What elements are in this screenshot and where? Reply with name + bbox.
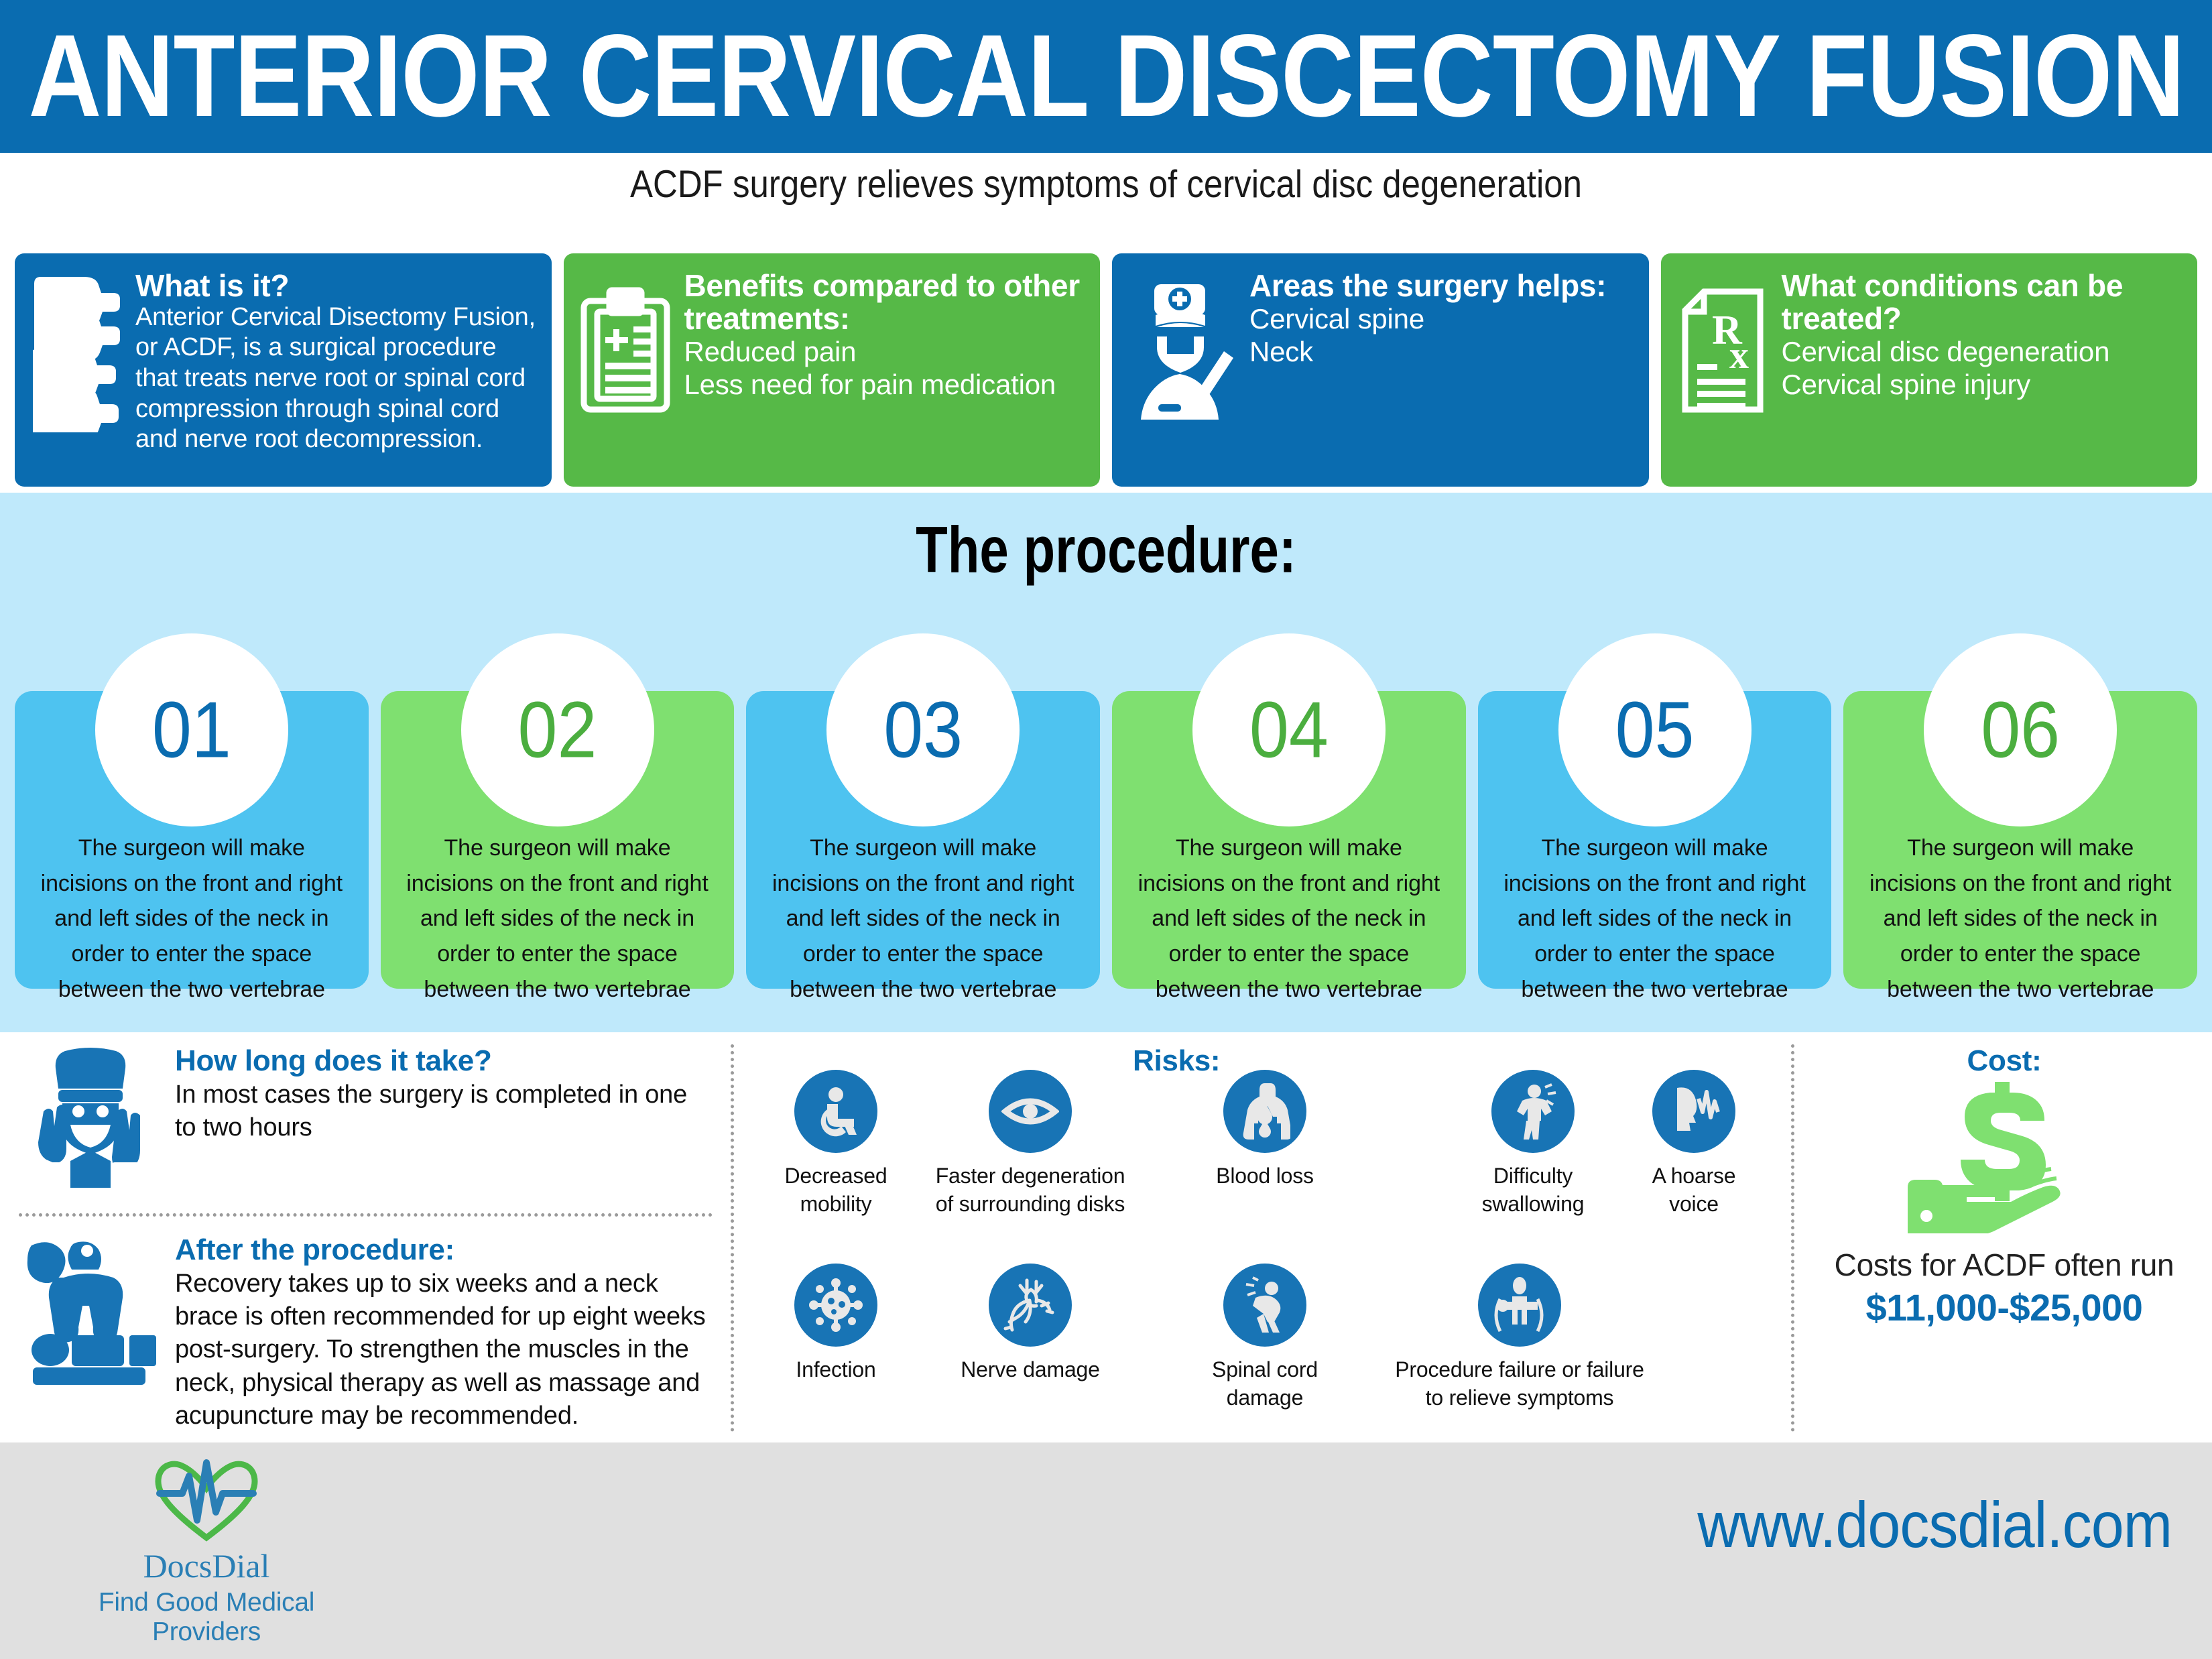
info-card-what-is-it: What is it? Anterior Cervical Disectomy …: [15, 253, 552, 487]
procedure-step: The surgeon will make incisions on the f…: [746, 633, 1100, 989]
blood-drop-body-icon: [1223, 1070, 1306, 1153]
risk-item-blood-loss: Blood loss: [1181, 1070, 1349, 1190]
step-number-bubble: 03: [826, 633, 1020, 826]
risk-label-line1: A hoarse: [1617, 1162, 1771, 1190]
brand-tagline: Find Good Medical Providers: [79, 1588, 334, 1647]
info-card-line-2: Neck: [1249, 335, 1634, 369]
procedure-step: The surgeon will make incisions on the f…: [1478, 633, 1832, 989]
page-subtitle: ACDF surgery relieves symptoms of cervic…: [0, 162, 2212, 206]
cost-line-1: Costs for ACDF often run: [1803, 1247, 2205, 1283]
svg-text:x: x: [1729, 333, 1749, 377]
step-number-bubble: 02: [461, 633, 654, 826]
step-number-bubble: 04: [1192, 633, 1386, 826]
brand-logo[interactable]: DocsDial Find Good Medical Providers: [79, 1455, 334, 1647]
dollar-in-hand-icon: [1902, 1079, 2103, 1237]
info-card-title: What is it?: [135, 269, 537, 302]
surgeon-gloves-icon: [15, 1044, 166, 1188]
procedure-step: The surgeon will make incisions on the f…: [1112, 633, 1466, 989]
heart-pulse-logo-icon: [79, 1455, 334, 1545]
aftercare-text: Recovery takes up to six weeks and a nec…: [175, 1268, 712, 1433]
procedure-section: The procedure: The surgeon will make inc…: [0, 493, 2212, 1032]
header-banner: ANTERIOR CERVICAL DISCECTOMY FUSION: [0, 0, 2212, 153]
info-card-body: Benefits compared to other treatments: R…: [684, 268, 1086, 402]
step-number-bubble: 06: [1924, 633, 2117, 826]
patient-massage-icon: [15, 1233, 166, 1433]
info-cards-row: What is it? Anterior Cervical Disectomy …: [15, 253, 2197, 487]
footer-bar: DocsDial Find Good Medical Providers www…: [0, 1442, 2212, 1659]
procedure-step: The surgeon will make incisions on the f…: [1843, 633, 2197, 989]
infographic-page: ANTERIOR CERVICAL DISCECTOMY FUSION ACDF…: [0, 0, 2212, 1659]
page-title: ANTERIOR CERVICAL DISCECTOMY FUSION: [28, 18, 2184, 135]
aftercare-block: After the procedure: Recovery takes up t…: [15, 1233, 712, 1433]
info-card-title: Areas the surgery helps:: [1249, 269, 1634, 302]
risk-label-line1: Blood loss: [1181, 1162, 1349, 1190]
risk-item-infection: Infection: [752, 1264, 920, 1384]
cost-line-2: $11,000-$25,000: [1803, 1286, 2205, 1329]
risk-item-spinal-cord-damage: Spinal cord damage: [1181, 1264, 1349, 1412]
risk-label-line1: Spinal cord: [1181, 1355, 1349, 1384]
website-url[interactable]: www.docsdial.com: [1697, 1487, 2172, 1562]
back-pain-icon: [1223, 1264, 1306, 1347]
step-number: 03: [883, 690, 963, 770]
risk-label-line1: Infection: [752, 1355, 920, 1384]
info-card-areas-helped: Areas the surgery helps: Cervical spine …: [1112, 253, 1649, 487]
step-number: 02: [518, 690, 597, 770]
step-text: The surgeon will make incisions on the f…: [32, 831, 351, 1007]
info-card-benefits: Benefits compared to other treatments: R…: [564, 253, 1101, 487]
step-number-bubble: 05: [1558, 633, 1752, 826]
prescription-rx-icon: R x: [1676, 268, 1776, 436]
info-card-body: What conditions can be treated? Cervical…: [1782, 268, 2183, 402]
duration-text: In most cases the surgery is completed i…: [175, 1079, 712, 1145]
cost-title: Cost:: [1810, 1044, 2199, 1078]
throat-swallow-icon: [1491, 1070, 1575, 1153]
risk-label-line2: mobility: [752, 1190, 920, 1218]
risk-label-line2: voice: [1617, 1190, 1771, 1218]
info-card-line-2: Less need for pain medication: [684, 368, 1086, 402]
step-number: 05: [1615, 690, 1695, 770]
info-card-conditions: R x What conditions can be treated? Cerv…: [1661, 253, 2198, 487]
info-card-line-2: Cervical spine injury: [1782, 368, 2183, 402]
risk-label-line1: Faster degeneration: [920, 1162, 1141, 1190]
risk-label-line1: Difficulty: [1449, 1162, 1617, 1190]
lower-section: How long does it take? In most cases the…: [0, 1032, 2212, 1442]
step-text: The surgeon will make incisions on the f…: [763, 831, 1083, 1007]
aftercare-title: After the procedure:: [175, 1233, 712, 1268]
risk-item-difficulty-swallowing: Difficulty swallowing: [1449, 1070, 1617, 1218]
duration-body: How long does it take? In most cases the…: [166, 1044, 712, 1188]
surgeon-scalpel-icon: [1127, 268, 1244, 436]
info-card-body: Areas the surgery helps: Cervical spine …: [1249, 268, 1634, 369]
step-text: The surgeon will make incisions on the f…: [398, 831, 717, 1007]
clipboard-medical-icon: [578, 268, 679, 436]
risk-label-line2: of surrounding disks: [920, 1190, 1141, 1218]
info-card-title: Benefits compared to other treatments:: [684, 269, 1086, 335]
risk-label-line1: Nerve damage: [920, 1355, 1141, 1384]
aftercare-body: After the procedure: Recovery takes up t…: [166, 1233, 712, 1433]
risk-item-faster-degeneration: Faster degeneration of surrounding disks: [920, 1070, 1141, 1218]
info-card-body: What is it? Anterior Cervical Disectomy …: [135, 268, 537, 455]
risk-label-line2: swallowing: [1449, 1190, 1617, 1218]
step-text: The surgeon will make incisions on the f…: [1129, 831, 1449, 1007]
risk-item-decreased-mobility: Decreased mobility: [752, 1070, 920, 1218]
vertical-divider-left: [731, 1044, 734, 1432]
info-card-line-1: Cervical spine: [1249, 302, 1634, 336]
hoarse-voice-icon: [1652, 1070, 1735, 1153]
eye-icon: [989, 1070, 1072, 1153]
risk-label-line2: to relieve symptoms: [1355, 1384, 1684, 1412]
info-card-title: What conditions can be treated?: [1782, 269, 2183, 335]
risk-item-nerve-damage: Nerve damage: [920, 1264, 1141, 1384]
step-number-bubble: 01: [95, 633, 288, 826]
risk-label-line2: damage: [1181, 1384, 1349, 1412]
risk-item-hoarse-voice: A hoarse voice: [1617, 1070, 1771, 1218]
info-card-line-1: Cervical disc degeneration: [1782, 335, 2183, 369]
procedure-heading: The procedure:: [0, 512, 2212, 589]
step-number: 01: [152, 690, 231, 770]
step-number: 04: [1249, 690, 1329, 770]
info-card-line-1: Reduced pain: [684, 335, 1086, 369]
duration-block: How long does it take? In most cases the…: [15, 1044, 712, 1188]
procedure-step: The surgeon will make incisions on the f…: [15, 633, 369, 989]
vertical-divider-right: [1791, 1044, 1794, 1432]
horizontal-divider: [19, 1213, 713, 1217]
info-card-paragraph: Anterior Cervical Disectomy Fusion, or A…: [135, 302, 537, 455]
risk-item-procedure-failure: Procedure failure or failure to relieve …: [1355, 1264, 1684, 1412]
risk-label-line1: Procedure failure or failure: [1355, 1355, 1684, 1384]
brand-name: DocsDial: [79, 1546, 334, 1585]
virus-icon: [794, 1264, 877, 1347]
procedure-step: The surgeon will make incisions on the f…: [381, 633, 735, 989]
duration-title: How long does it take?: [175, 1044, 712, 1079]
step-number: 06: [1981, 690, 2060, 770]
spine-vertebrae-icon: [29, 268, 130, 436]
procedure-steps-row: The surgeon will make incisions on the f…: [15, 633, 2197, 989]
wheelchair-icon: [794, 1070, 877, 1153]
nerve-icon: [989, 1264, 1072, 1347]
risk-label-line1: Decreased: [752, 1162, 920, 1190]
step-text: The surgeon will make incisions on the f…: [1861, 831, 2180, 1007]
procedure-failure-icon: [1478, 1264, 1561, 1347]
step-text: The surgeon will make incisions on the f…: [1495, 831, 1815, 1007]
